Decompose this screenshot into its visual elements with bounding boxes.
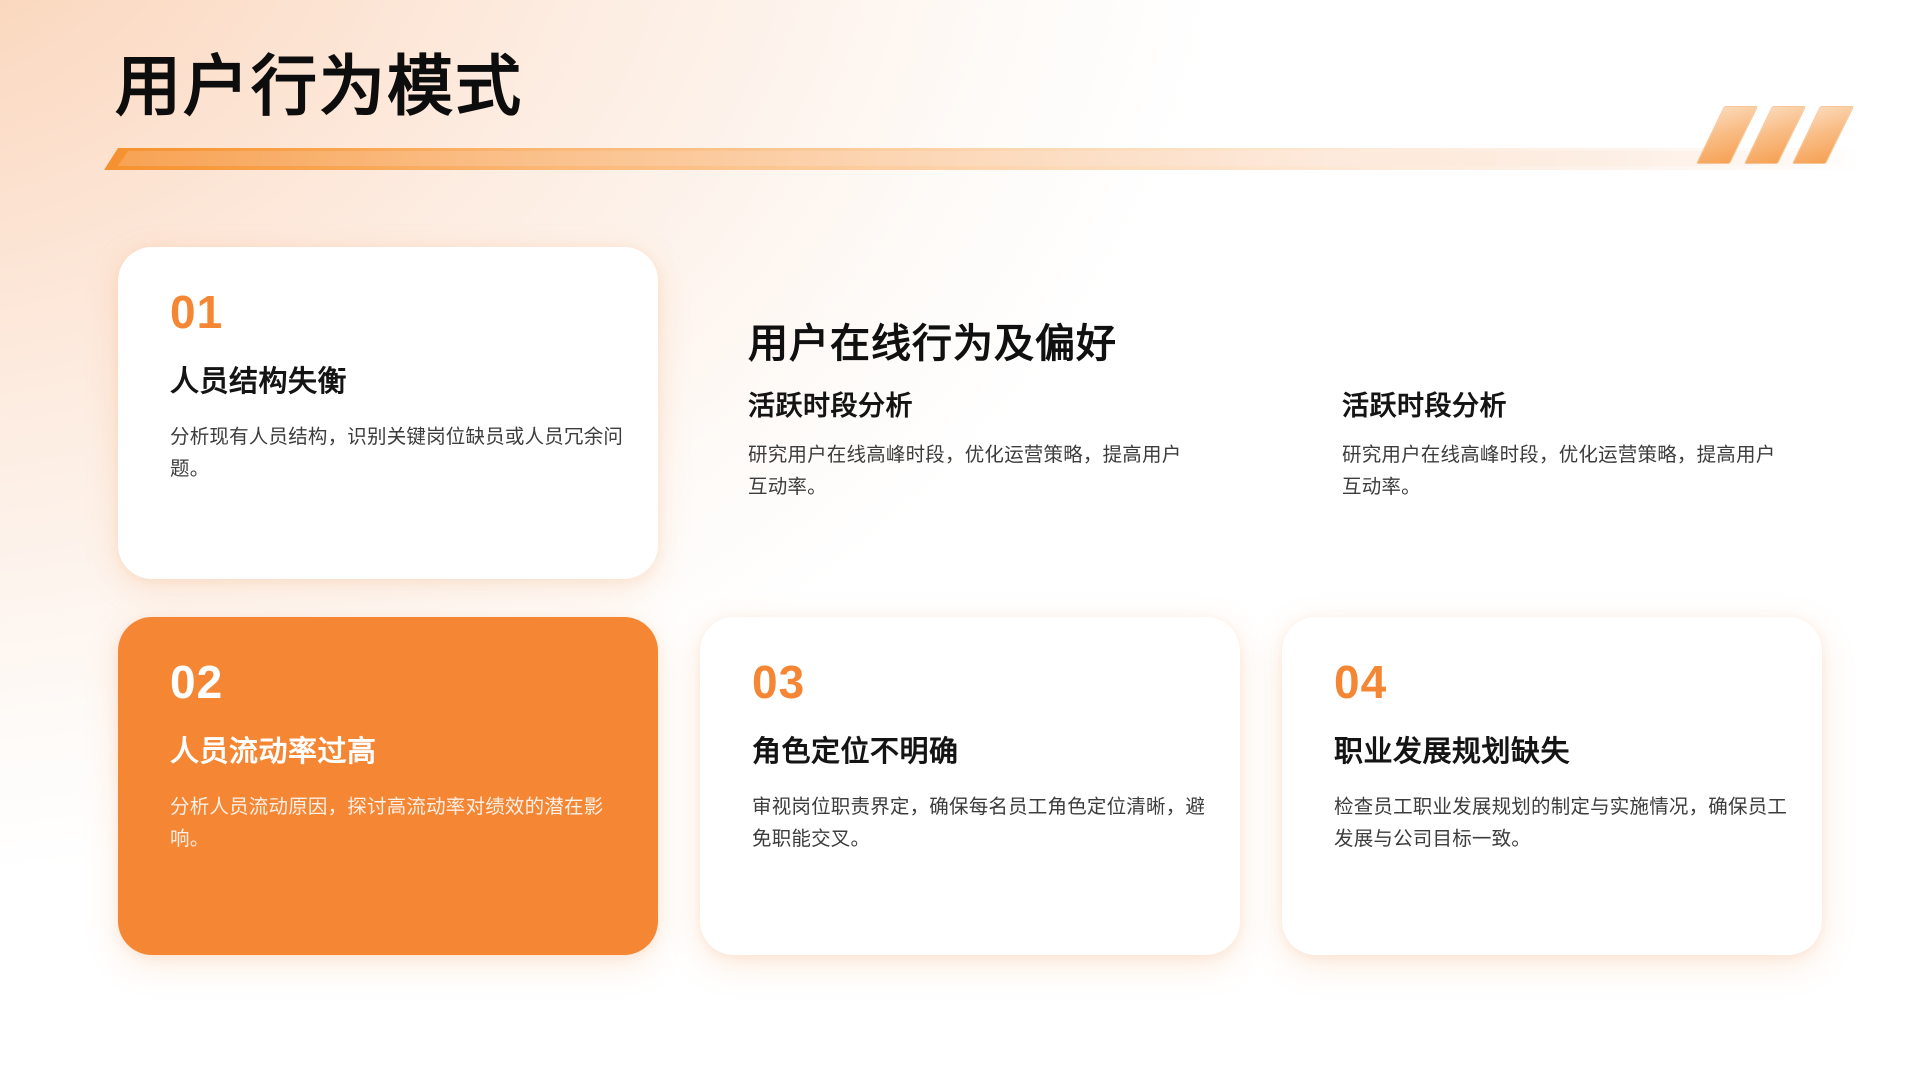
feature-card-02[interactable]: 02 人员流动率过高 分析人员流动原因，探讨高流动率对绩效的潜在影响。 xyxy=(118,617,658,955)
text-block-description: 研究用户在线高峰时段，优化运营策略，提高用户互动率。 xyxy=(1342,440,1794,503)
text-block-title: 活跃时段分析 xyxy=(748,390,1218,422)
card-title: 人员结构失衡 xyxy=(170,365,347,400)
card-number: 03 xyxy=(752,659,805,705)
card-description: 检查员工职业发展规划的制定与实施情况，确保员工发展与公司目标一致。 xyxy=(1334,792,1804,855)
slide-content: 01 人员结构失衡 分析现有人员结构，识别关键岗位缺员或人员冗余问题。 02 人… xyxy=(0,185,1920,1080)
page-title: 用户行为模式 xyxy=(115,53,523,119)
card-title: 职业发展规划缺失 xyxy=(1334,735,1570,770)
card-number: 02 xyxy=(170,659,223,705)
card-title: 角色定位不明确 xyxy=(752,735,959,770)
text-block-left: 活跃时段分析 研究用户在线高峰时段，优化运营策略，提高用户互动率。 xyxy=(748,390,1218,504)
feature-card-01[interactable]: 01 人员结构失衡 分析现有人员结构，识别关键岗位缺员或人员冗余问题。 xyxy=(118,247,658,579)
slide-header: 用户行为模式 xyxy=(0,0,1920,185)
card-description: 分析人员流动原因，探讨高流动率对绩效的潜在影响。 xyxy=(170,792,630,855)
section-heading: 用户在线行为及偏好 xyxy=(748,311,1117,369)
slashes-decoration xyxy=(1710,106,1890,168)
text-block-description: 研究用户在线高峰时段，优化运营策略，提高用户互动率。 xyxy=(748,440,1200,503)
card-description: 审视岗位职责界定，确保每名员工角色定位清晰，避免职能交叉。 xyxy=(752,792,1212,855)
title-underline-highlight xyxy=(118,151,1858,166)
feature-card-03[interactable]: 03 角色定位不明确 审视岗位职责界定，确保每名员工角色定位清晰，避免职能交叉。 xyxy=(700,617,1240,955)
slide-canvas: 用户行为模式 01 人员结构失衡 分析现有人员结构，识别关键岗位缺员或人员冗余问… xyxy=(0,0,1920,1080)
text-block-right: 活跃时段分析 研究用户在线高峰时段，优化运营策略，提高用户互动率。 xyxy=(1342,390,1812,504)
card-number: 01 xyxy=(170,289,223,335)
text-block-title: 活跃时段分析 xyxy=(1342,390,1812,422)
card-number: 04 xyxy=(1334,659,1387,705)
card-description: 分析现有人员结构，识别关键岗位缺员或人员冗余问题。 xyxy=(170,422,630,485)
card-title: 人员流动率过高 xyxy=(170,735,377,770)
feature-card-04[interactable]: 04 职业发展规划缺失 检查员工职业发展规划的制定与实施情况，确保员工发展与公司… xyxy=(1282,617,1822,955)
